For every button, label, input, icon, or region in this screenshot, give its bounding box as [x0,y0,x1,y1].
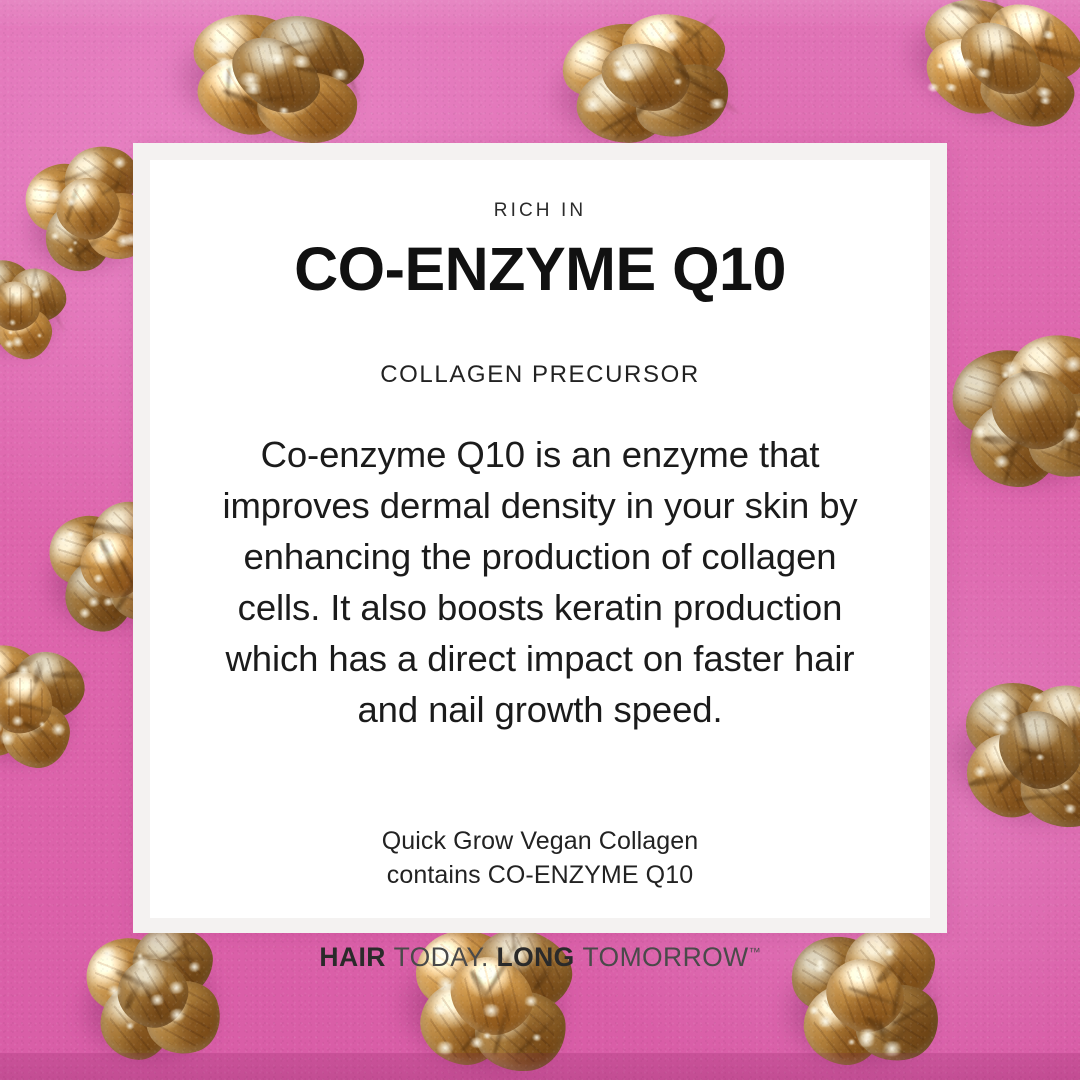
walnut-kernel [785,925,944,1071]
body-paragraph: Co-enzyme Q10 is an enzyme that improves… [204,429,876,735]
walnut-right-lower [947,669,1080,837]
walnut-bottom-right [785,925,944,1071]
walnut-kernel [947,669,1080,837]
walnut-kernel [904,0,1080,139]
walnut-top-center [178,2,372,152]
info-card: RICH IN CO-ENZYME Q10 COLLAGEN PRECURSOR… [150,160,930,918]
product-note-line-1: Quick Grow Vegan Collagen [220,824,860,858]
walnut-kernel [78,921,229,1068]
walnut-kernel [178,2,372,152]
walnut-left-bottom [78,921,229,1068]
tagline-word-long: LONG [497,942,575,972]
eyebrow-label: RICH IN [494,200,586,222]
walnut-kernel [554,9,738,150]
product-note: Quick Grow Vegan Collagen contains CO-EN… [220,824,860,892]
tagline-word-tomorrow: TOMORROW [582,942,748,972]
tagline-word-hair: HAIR [319,942,385,972]
trademark-icon: ™ [749,945,761,959]
page-title: CO-ENZYME Q10 [294,238,786,300]
walnut-highlight [523,996,540,1007]
walnut-right-mid [941,327,1080,500]
product-note-line-2: contains CO-ENZYME Q10 [220,858,860,892]
tagline-word-today: TODAY. [394,942,489,972]
walnut-top-mid [554,9,738,150]
walnut-kernel [941,327,1080,500]
card-outer-frame: RICH IN CO-ENZYME Q10 COLLAGEN PRECURSOR… [133,143,947,933]
subheading-label: COLLAGEN PRECURSOR [380,361,700,389]
walnut-left-lower [0,632,94,779]
brand-tagline: HAIR TODAY. LONG TOMORROW™ [319,942,760,973]
poster-canvas: RICH IN CO-ENZYME Q10 COLLAGEN PRECURSOR… [0,0,1080,1080]
walnut-kernel [0,632,94,779]
walnut-crease [51,671,89,678]
walnut-highlight [1074,409,1080,417]
walnut-top-right [904,0,1080,139]
